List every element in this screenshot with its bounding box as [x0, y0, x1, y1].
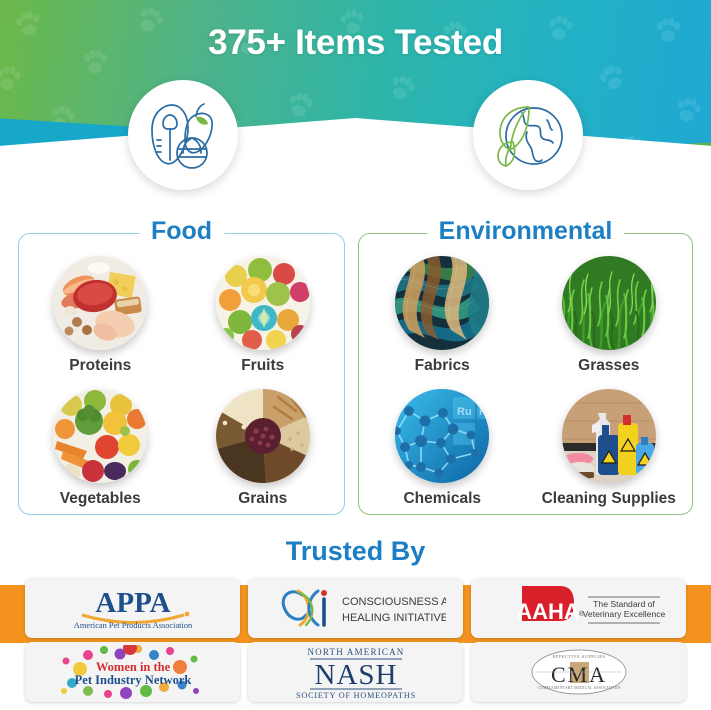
vegetables-thumb	[53, 389, 147, 483]
category-label: Grains	[238, 490, 287, 508]
trusted-by-heading: Trusted By	[0, 536, 711, 567]
environmental-icon	[489, 96, 567, 174]
category-item-chemicals[interactable]: Ru Rh	[395, 389, 489, 508]
chi-logo: CONSCIOUSNESS AND HEALING INITIATIVE	[266, 585, 446, 631]
category-item-grains[interactable]: Grains	[216, 389, 310, 508]
cma-logo: EFFECTIVE SUPPLIES CMA COMPLEMENTARY MED…	[514, 646, 644, 698]
grains-thumb	[216, 389, 310, 483]
environmental-category-badge	[473, 80, 583, 190]
category-item-fabrics[interactable]: Fabrics	[395, 256, 489, 375]
panel-food-title: Food	[139, 217, 224, 246]
category-label: Cleaning Supplies	[542, 490, 676, 508]
nash-top: NORTH AMERICAN	[307, 647, 404, 657]
appa-logo: APPA American Pet Products Association	[58, 582, 208, 634]
logo-card-wipin[interactable]: Women in the Pet Industry Network Women …	[25, 642, 240, 702]
proteins-thumb	[53, 256, 147, 350]
category-item-grasses[interactable]: Grasses	[562, 256, 656, 375]
panel-environmental: Environmental	[358, 233, 693, 515]
cma-wordmark: CMA	[550, 662, 606, 687]
header-banner: 375+ Items Tested	[0, 0, 711, 196]
panel-environmental-grid: Fabrics	[359, 256, 692, 508]
aaha-line1: The Standard of	[593, 599, 655, 609]
cma-bottom: COMPLEMENTARY MEDICAL ASSOCIATION	[537, 686, 620, 690]
fruits-thumb	[216, 256, 310, 350]
chemicals-thumb: Ru Rh	[395, 389, 489, 483]
cma-top: EFFECTIVE SUPPLIES	[552, 654, 605, 659]
panel-food: Food	[18, 233, 345, 515]
category-label: Vegetables	[60, 490, 141, 508]
aaha-logo: AAHA ® The Standard of Veterinary Excell…	[484, 583, 674, 633]
appa-wordmark: APPA	[95, 587, 170, 619]
category-label: Fruits	[241, 357, 284, 375]
wipin-line2: Pet Industry Network	[74, 673, 191, 687]
food-category-badge	[128, 80, 238, 190]
category-item-proteins[interactable]: Proteins	[53, 256, 147, 375]
nash-wordmark: NASH	[314, 659, 397, 691]
aaha-line2: Veterinary Excellence	[582, 609, 665, 619]
category-label: Chemicals	[403, 490, 481, 508]
logo-card-aaha[interactable]: AAHA ® The Standard of Veterinary Excell…	[471, 578, 686, 638]
logo-card-chi[interactable]: CONSCIOUSNESS AND HEALING INITIATIVE cHi…	[248, 578, 463, 638]
category-label: Proteins	[69, 357, 131, 375]
chi-line1: CONSCIOUSNESS AND	[342, 596, 446, 608]
wipin-logo: Women in the Pet Industry Network	[58, 645, 208, 699]
nash-bottom: SOCIETY OF HOMEOPATHS	[296, 691, 416, 700]
nash-logo: NORTH AMERICAN NASH SOCIETY OF HOMEOPATH…	[276, 644, 436, 700]
wipin-line1: Women in the	[95, 660, 170, 674]
panel-food-grid: Proteins	[19, 256, 344, 508]
svg-text:Ru: Ru	[457, 406, 472, 418]
chi-line2: HEALING INITIATIVE	[342, 612, 446, 624]
category-item-vegetables[interactable]: Vegetables	[53, 389, 147, 508]
infographic-page: 375+ Items Tested	[0, 0, 711, 710]
category-item-cleaning-supplies[interactable]: Cleaning Supplies	[542, 389, 676, 508]
category-label: Fabrics	[415, 357, 470, 375]
category-label: Grasses	[578, 357, 639, 375]
trusted-logos-grid: APPA American Pet Products Association A…	[25, 578, 686, 702]
svg-text:Rh: Rh	[479, 406, 489, 418]
grasses-thumb	[562, 256, 656, 350]
food-icon	[144, 96, 222, 174]
aaha-wordmark: AAHA	[516, 599, 580, 624]
logo-card-cma[interactable]: EFFECTIVE SUPPLIES CMA COMPLEMENTARY MED…	[471, 642, 686, 702]
panel-environmental-title: Environmental	[427, 217, 625, 246]
appa-tagline: American Pet Products Association	[73, 621, 192, 630]
fabrics-thumb	[395, 256, 489, 350]
page-title: 375+ Items Tested	[0, 23, 711, 63]
cleaning-supplies-thumb	[562, 389, 656, 483]
logo-card-appa[interactable]: APPA American Pet Products Association A…	[25, 578, 240, 638]
logo-card-nash[interactable]: NORTH AMERICAN NASH SOCIETY OF HOMEOPATH…	[248, 642, 463, 702]
category-item-fruits[interactable]: Fruits	[216, 256, 310, 375]
